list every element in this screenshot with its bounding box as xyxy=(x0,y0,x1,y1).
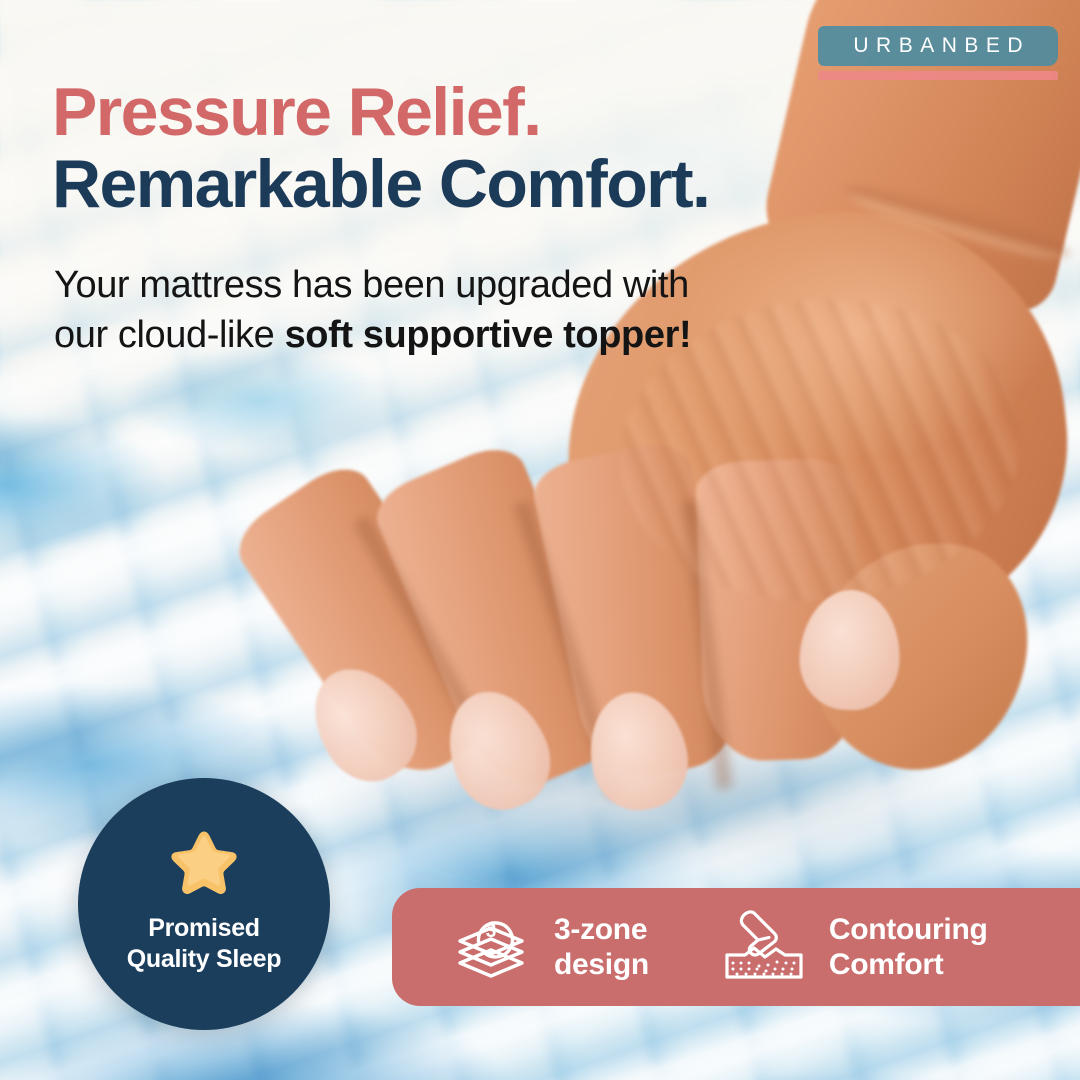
feature-label-line-2: design xyxy=(554,947,649,982)
badge-label-line-2: Quality Sleep xyxy=(127,944,282,975)
feature-item-3-zone-design: 3 3-zone design xyxy=(450,907,649,988)
svg-text:3: 3 xyxy=(486,921,497,942)
headline-line-2: Remarkable Comfort. xyxy=(52,148,852,220)
badge-label: Promised Quality Sleep xyxy=(127,913,282,974)
promised-quality-sleep-badge: Promised Quality Sleep xyxy=(78,778,330,1030)
brand-logo[interactable]: URBANBED xyxy=(818,26,1058,80)
logo-wordmark: URBANBED xyxy=(818,35,1058,56)
feature-label-line-1: 3-zone xyxy=(554,912,649,947)
star-icon xyxy=(168,828,240,903)
hand-pressing-foam-icon xyxy=(721,907,807,988)
feature-label-line-1: Contouring xyxy=(829,912,988,947)
feature-item-contouring-comfort: Contouring Comfort xyxy=(721,907,988,988)
feature-bar: 3 3-zone design xyxy=(392,888,1080,1006)
feature-label-contouring-comfort: Contouring Comfort xyxy=(829,912,988,983)
feature-label-line-2: Comfort xyxy=(829,947,988,982)
headline-block: Pressure Relief. Remarkable Comfort. xyxy=(52,76,852,220)
logo-bar: URBANBED xyxy=(818,26,1058,66)
headline-line-1: Pressure Relief. xyxy=(52,76,852,148)
logo-underline-accent xyxy=(818,71,1058,80)
subheading-text-bold: soft supportive topper! xyxy=(285,314,692,356)
feature-label-3-zone-design: 3-zone design xyxy=(554,912,649,983)
badge-label-line-1: Promised xyxy=(127,913,282,944)
stacked-layers-three-icon: 3 xyxy=(450,907,532,988)
ad-canvas: URBANBED Pressure Relief. Remarkable Com… xyxy=(0,0,1080,1080)
subheading-block: Your mattress has been upgraded with our… xyxy=(54,260,714,360)
